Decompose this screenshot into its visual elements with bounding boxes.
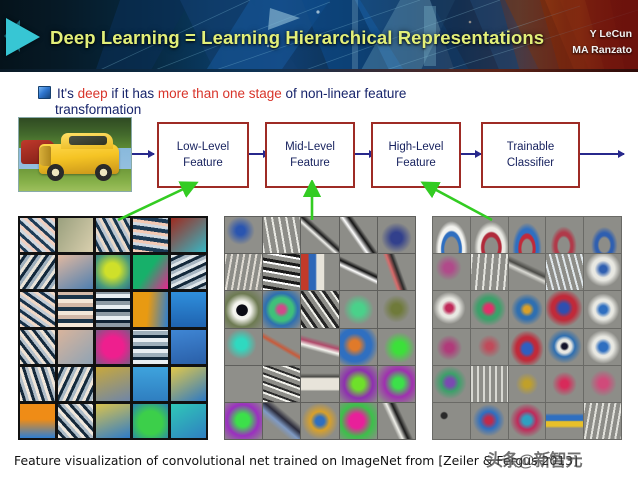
box-label-line1: Trainable [507, 139, 555, 155]
filter-cell [171, 255, 206, 289]
filter-cell [20, 218, 55, 252]
bullet-text: It's deep if it has more than one stage … [57, 86, 406, 101]
filter-grid [18, 216, 208, 440]
feature-cell [584, 291, 621, 327]
page-title: Deep Learning = Learning Hierarchical Re… [50, 27, 550, 49]
feature-cell [378, 329, 415, 365]
pipeline-box-low-level[interactable]: Low-Level Feature [157, 122, 249, 188]
feature-cell [301, 217, 338, 253]
pipeline-box-high-level[interactable]: High-Level Feature [371, 122, 461, 188]
feature-cell [340, 254, 377, 290]
feature-cell [433, 329, 470, 365]
feature-cell [301, 366, 338, 402]
filter-cell [96, 330, 131, 364]
feature-cell [509, 217, 546, 253]
filter-cell [96, 367, 131, 401]
mid-level-feature-visualization [224, 216, 416, 440]
feature-cell [263, 291, 300, 327]
feature-cell [433, 291, 470, 327]
photo-car-wheel-rear [95, 164, 112, 181]
feature-cell [509, 291, 546, 327]
arrow-high-to-classifier [459, 153, 481, 155]
bullet-text-emphasis-1: deep [78, 86, 108, 101]
bullet-text-emphasis-2: more than one stage [158, 86, 282, 101]
author-name-primary: Y LeCun [572, 26, 632, 42]
feature-cell [433, 366, 470, 402]
filter-cell [171, 218, 206, 252]
photo-car-wheel-front [47, 164, 64, 181]
pipeline-box-trainable-classifier[interactable]: Trainable Classifier [481, 122, 580, 188]
feature-cell [509, 254, 546, 290]
slide-header: Deep Learning = Learning Hierarchical Re… [0, 0, 638, 72]
filter-cell [58, 218, 93, 252]
feature-cell [378, 217, 415, 253]
feature-cell [225, 329, 262, 365]
box-label-line1: Mid-Level [285, 139, 335, 155]
arrow-input-to-low [132, 153, 154, 155]
box-label-line1: High-Level [389, 139, 444, 155]
feature-cell [340, 366, 377, 402]
feature-grid [224, 216, 416, 440]
connector-high-level [425, 184, 492, 220]
feature-cell [263, 254, 300, 290]
feature-connectors [0, 180, 638, 222]
chevron-right-icon [6, 18, 40, 56]
feature-cell [378, 291, 415, 327]
low-level-feature-visualization [18, 216, 208, 440]
feature-cell [546, 366, 583, 402]
feature-cell [301, 403, 338, 439]
feature-cell [378, 254, 415, 290]
filter-cell [171, 404, 206, 438]
high-level-feature-visualization [432, 216, 622, 440]
feature-cell [471, 217, 508, 253]
feature-cell [546, 217, 583, 253]
feature-cell [301, 254, 338, 290]
bullet-text-seg1: It's [57, 86, 78, 101]
feature-cell [433, 254, 470, 290]
slide: Deep Learning = Learning Hierarchical Re… [0, 0, 638, 479]
feature-cell [225, 403, 262, 439]
feature-cell [340, 329, 377, 365]
feature-cell [340, 403, 377, 439]
filter-cell [20, 367, 55, 401]
filter-cell [96, 404, 131, 438]
feature-cell [509, 403, 546, 439]
box-label-line2: Feature [177, 155, 229, 171]
filter-cell [96, 255, 131, 289]
filter-cell [20, 404, 55, 438]
filter-cell [133, 330, 168, 364]
connector-low-level [118, 184, 194, 220]
bullet-text-seg3: of non-linear feature [282, 86, 407, 101]
watermark: 头条@新智元 [486, 446, 582, 471]
author-credits: Y LeCun MA Ranzato [572, 26, 632, 58]
filter-cell [58, 292, 93, 326]
feature-cell [225, 366, 262, 402]
feature-cell [471, 366, 508, 402]
feature-cell [471, 291, 508, 327]
photo-car-grille [39, 146, 51, 166]
box-label-line2: Feature [389, 155, 444, 171]
feature-cell [584, 217, 621, 253]
feature-cell [546, 254, 583, 290]
filter-cell [133, 367, 168, 401]
bullet-text-line2: transformation [55, 102, 141, 117]
feature-cell [225, 291, 262, 327]
feature-cell [584, 403, 621, 439]
box-label-line2: Feature [285, 155, 335, 171]
feature-cell [263, 366, 300, 402]
filter-cell [133, 218, 168, 252]
box-label-line2: Classifier [507, 155, 555, 171]
feature-cell [225, 254, 262, 290]
feature-grid [432, 216, 622, 440]
feature-cell [301, 329, 338, 365]
feature-cell [263, 403, 300, 439]
feature-cell [433, 217, 470, 253]
feature-cell [546, 329, 583, 365]
filter-cell [171, 367, 206, 401]
filter-cell [58, 330, 93, 364]
feature-cell [378, 366, 415, 402]
feature-cell [340, 217, 377, 253]
feature-cell [301, 291, 338, 327]
filter-cell [20, 330, 55, 364]
filter-cell [133, 404, 168, 438]
filter-cell [58, 367, 93, 401]
author-name-secondary: MA Ranzato [572, 42, 632, 58]
feature-cell [378, 403, 415, 439]
feature-cell [471, 254, 508, 290]
filter-cell [133, 255, 168, 289]
header-divider [0, 69, 638, 72]
filter-cell [20, 255, 55, 289]
filter-cell [58, 255, 93, 289]
filter-cell [96, 292, 131, 326]
feature-cell [546, 403, 583, 439]
bullet-text-seg2: if it has [108, 86, 158, 101]
feature-cell [509, 329, 546, 365]
bullet-point: It's deep if it has more than one stage … [38, 84, 598, 103]
box-label-line1: Low-Level [177, 139, 229, 155]
feature-cell [584, 329, 621, 365]
feature-cell [263, 329, 300, 365]
feature-cell [509, 366, 546, 402]
filter-cell [20, 292, 55, 326]
feature-cell [546, 291, 583, 327]
filter-cell [133, 292, 168, 326]
feature-cell [471, 403, 508, 439]
bullet-square-icon [38, 86, 51, 99]
feature-cell [584, 254, 621, 290]
feature-cell [471, 329, 508, 365]
feature-cell [263, 217, 300, 253]
feature-cell [433, 403, 470, 439]
feature-cell [225, 217, 262, 253]
arrow-classifier-output [578, 153, 624, 155]
filter-cell [58, 404, 93, 438]
filter-cell [171, 292, 206, 326]
filter-cell [171, 330, 206, 364]
feature-cell [340, 291, 377, 327]
pipeline-box-mid-level[interactable]: Mid-Level Feature [265, 122, 355, 188]
filter-cell [96, 218, 131, 252]
photo-car-window [69, 136, 107, 145]
feature-cell [584, 366, 621, 402]
